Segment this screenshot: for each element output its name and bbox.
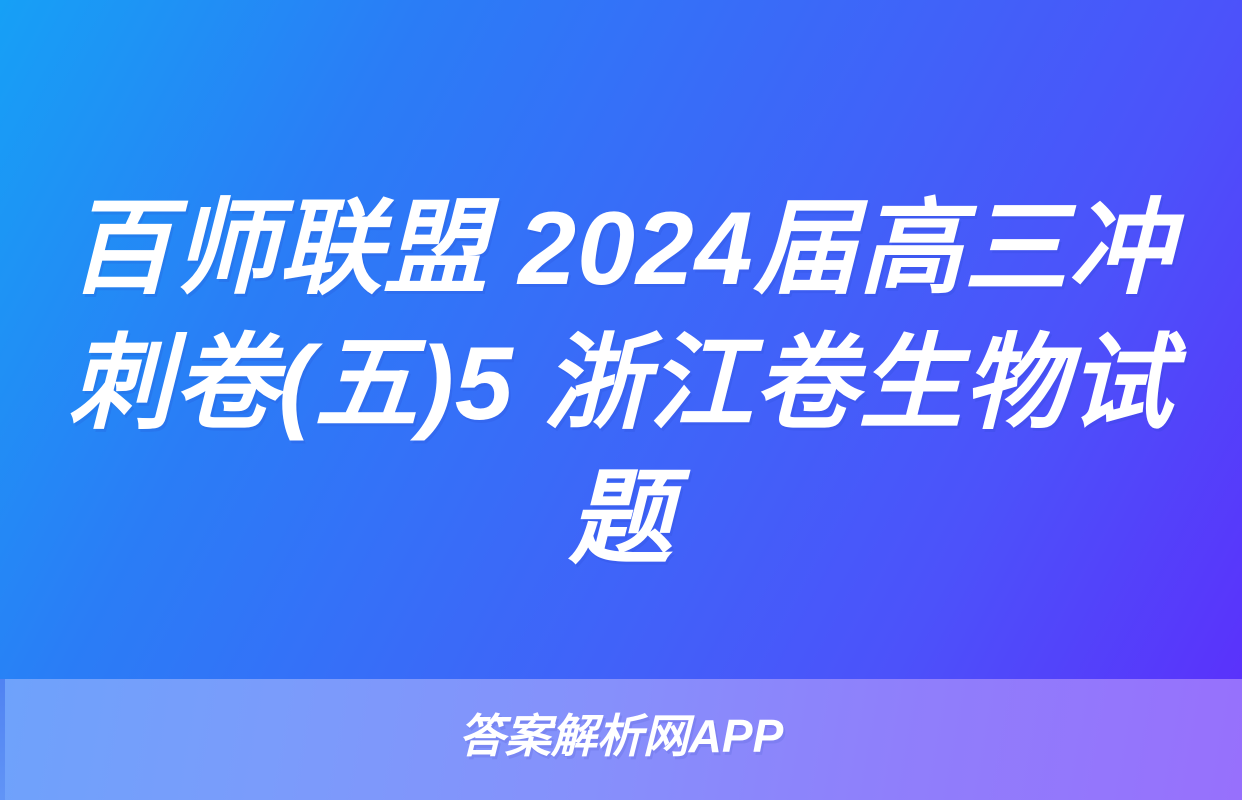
title-line-2: 刺卷(五)5 浙江卷生物试 — [36, 317, 1206, 452]
title-line-1: 百师联盟 2024届高三冲 — [36, 182, 1206, 317]
promo-banner: 百师联盟 2024届高三冲 刺卷(五)5 浙江卷生物试 题 答案解析网APP — [0, 0, 1242, 800]
banner-title: 百师联盟 2024届高三冲 刺卷(五)5 浙江卷生物试 题 — [0, 182, 1242, 587]
app-watermark-label: 答案解析网APP — [459, 706, 784, 766]
app-watermark: 答案解析网APP — [0, 706, 1242, 766]
title-line-3: 题 — [36, 452, 1206, 587]
